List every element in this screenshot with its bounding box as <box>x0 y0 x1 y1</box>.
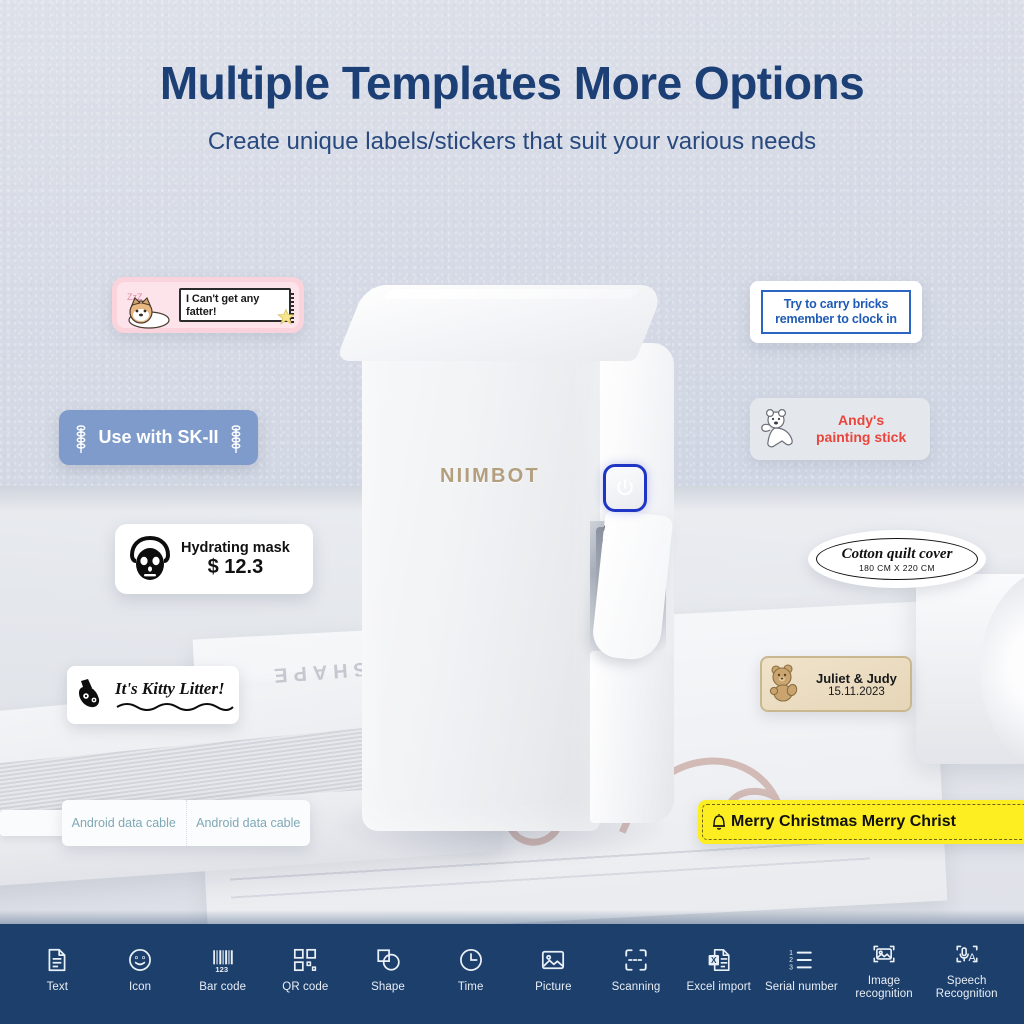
label-merry-christmas[interactable]: Merry Christmas Merry Christ <box>698 800 1024 844</box>
label-android-data-cable[interactable]: Android data cable Android data cable <box>62 800 310 846</box>
image-recognition-icon <box>871 941 897 967</box>
clock-icon <box>458 947 484 973</box>
svg-text:X: X <box>711 956 717 965</box>
toolbar-item-icon[interactable]: Icon <box>99 947 182 994</box>
niimbot-label-printer: NIIMB NIIMBOT <box>362 285 674 845</box>
label-kitty-litter[interactable]: It's Kitty Litter! <box>67 666 239 724</box>
label-android-tail <box>0 810 66 836</box>
toolbar-item-image-recognition[interactable]: Image recognition <box>843 941 926 1001</box>
mask-price: $ 12.3 <box>181 556 290 579</box>
image-icon <box>540 947 566 973</box>
shapes-icon <box>375 947 401 973</box>
numbered-list-icon: 1 2 3 <box>788 947 814 973</box>
toolbar-item-scanning[interactable]: Scanning <box>595 947 678 994</box>
wheat-icon <box>74 422 88 454</box>
toolbar-label-icon: Icon <box>129 981 151 994</box>
qr-code-icon <box>292 947 318 973</box>
microphone-text-icon: A <box>954 941 980 967</box>
toolbar-label-barcode: Bar code <box>199 981 246 994</box>
toolbar-label-text: Text <box>47 981 69 994</box>
bell-icon <box>711 813 727 831</box>
svg-text:3: 3 <box>789 965 793 972</box>
printer-top-panel <box>335 285 666 361</box>
quilt-size: 180 CM X 220 CM <box>859 563 935 573</box>
power-button[interactable] <box>603 464 647 512</box>
toolbar-label-time: Time <box>458 981 484 994</box>
bricks-line-2: remember to clock in <box>775 312 897 327</box>
toolbar-item-time[interactable]: Time <box>429 947 512 994</box>
label-cotton-quilt-cover[interactable]: Cotton quilt cover 180 CM X 220 CM <box>808 530 986 588</box>
toolbar-item-barcode[interactable]: 123 Bar code <box>181 947 264 994</box>
toolbar-item-serial-number[interactable]: 1 2 3 Serial number <box>760 947 843 994</box>
andy-line-2: painting stick <box>816 429 906 446</box>
page-subtitle: Create unique labels/stickers that suit … <box>0 128 1024 156</box>
excel-file-icon: X <box>706 947 732 973</box>
toolbar-item-text[interactable]: Text <box>16 947 99 994</box>
toolbar-label-picture: Picture <box>535 981 572 994</box>
juliet-names: Juliet & Judy <box>816 671 897 686</box>
bear-icon <box>760 407 808 451</box>
toolbar-label-serial-number: Serial number <box>765 981 838 994</box>
svg-text:2: 2 <box>789 958 793 965</box>
toolbar-item-picture[interactable]: Picture <box>512 947 595 994</box>
label-andys-painting-stick[interactable]: Andy's painting stick <box>750 398 930 460</box>
toolbar-label-image-recognition: Image recognition <box>843 975 926 1001</box>
android-cell-2: Android data cable <box>186 800 311 846</box>
scan-frame-icon <box>623 947 649 973</box>
toolbar-label-qrcode: QR code <box>282 981 328 994</box>
label-hydrating-mask[interactable]: Hydrating mask $ 12.3 <box>115 524 313 594</box>
printer-lower-side <box>590 651 674 823</box>
power-icon <box>614 477 636 499</box>
toolbar-label-excel-import: Excel import <box>686 981 750 994</box>
label-carry-bricks[interactable]: Try to carry bricks remember to clock in <box>750 281 922 343</box>
mask-product-name: Hydrating mask <box>181 540 290 556</box>
barcode-icon: 123 <box>210 947 236 973</box>
wheat-icon <box>229 422 243 454</box>
bottom-toolbar: Text Icon 123 Bar code QR code <box>0 924 1024 1024</box>
andy-line-1: Andy's <box>816 412 906 429</box>
printer-brand-logo: NIIMBOT <box>440 465 540 488</box>
svg-text:123: 123 <box>215 965 228 973</box>
toolbar-label-shape: Shape <box>371 981 405 994</box>
label-use-with-skii[interactable]: Use with SK-II <box>59 410 258 465</box>
cat-icon <box>75 675 109 715</box>
svg-text:1: 1 <box>789 950 793 957</box>
toolbar-item-speech-recognition[interactable]: A Speech Recognition <box>925 941 1008 1001</box>
label-doge-text: I Can't get any fatter! <box>179 288 291 322</box>
printer-front-panel <box>362 319 600 831</box>
toolbar-item-shape[interactable]: Shape <box>347 947 430 994</box>
teddy-bear-icon <box>768 662 812 706</box>
toolbar-label-speech-recognition: Speech Recognition <box>925 975 1008 1001</box>
document-text-icon <box>44 947 70 973</box>
page-title: Multiple Templates More Options <box>0 56 1024 110</box>
star-icon <box>277 308 295 326</box>
label-juliet-and-judy[interactable]: Juliet & Judy 15.11.2023 <box>760 656 912 712</box>
juliet-date: 15.11.2023 <box>816 686 897 698</box>
smiley-face-icon <box>127 947 153 973</box>
kitty-text: It's Kitty Litter! <box>115 679 235 699</box>
quilt-name: Cotton quilt cover <box>842 546 953 563</box>
toolbar-label-scanning: Scanning <box>612 981 661 994</box>
shiba-dog-icon: ZzZ <box>123 288 175 330</box>
svg-text:A: A <box>968 952 976 964</box>
android-cell-1: Android data cable <box>62 800 186 846</box>
toolbar-item-excel-import[interactable]: X Excel import <box>677 947 760 994</box>
xmas-text: Merry Christmas Merry Christ <box>731 813 956 831</box>
bricks-line-1: Try to carry bricks <box>775 297 897 312</box>
toolbar-item-qrcode[interactable]: QR code <box>264 947 347 994</box>
face-mask-icon <box>129 536 171 582</box>
skii-label-text: Use with SK-II <box>98 427 218 448</box>
wave-line-icon <box>115 700 235 712</box>
label-doge-diet[interactable]: ZzZ I Can't get any fatter! <box>112 277 304 333</box>
